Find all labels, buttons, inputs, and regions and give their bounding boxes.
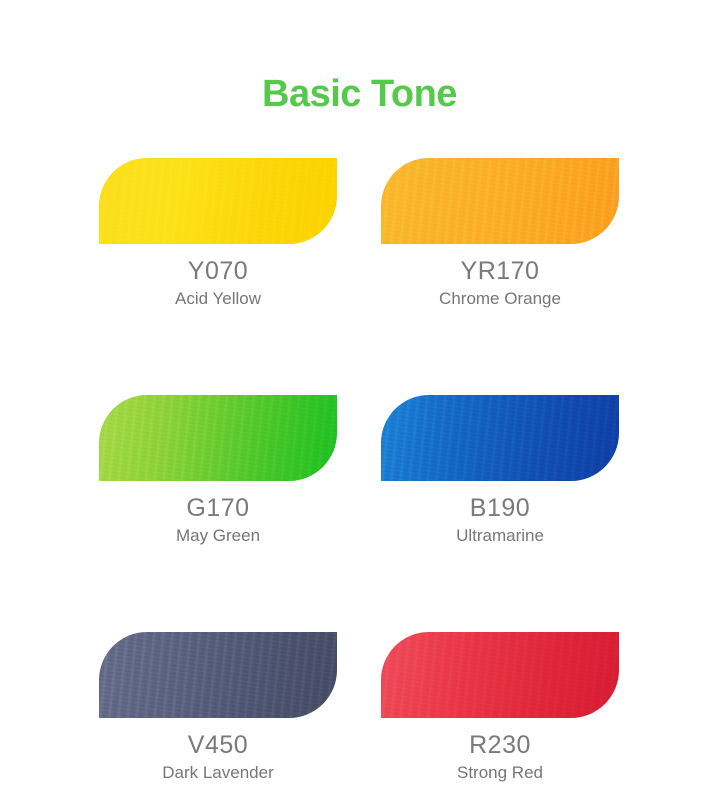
swatch-name: Acid Yellow — [99, 287, 337, 311]
swatch-cell-r230[interactable]: R230 Strong Red — [381, 632, 619, 785]
swatch-labels: G170 May Green — [99, 493, 337, 548]
swatch-code: R230 — [381, 730, 619, 760]
color-swatch-y070[interactable] — [99, 158, 337, 244]
swatch-code: YR170 — [381, 256, 619, 286]
swatch-wrap — [99, 158, 337, 244]
swatch-wrap — [381, 632, 619, 718]
swatch-name: Ultramarine — [381, 524, 619, 548]
swatch-cell-v450[interactable]: V450 Dark Lavender — [99, 632, 337, 785]
color-swatch-yr170[interactable] — [381, 158, 619, 244]
swatch-cell-y070[interactable]: Y070 Acid Yellow — [99, 158, 337, 311]
swatch-code: G170 — [99, 493, 337, 523]
swatch-name: Strong Red — [381, 761, 619, 785]
color-swatch-r230[interactable] — [381, 632, 619, 718]
swatch-name: Chrome Orange — [381, 287, 619, 311]
swatch-wrap — [99, 632, 337, 718]
swatch-code: Y070 — [99, 256, 337, 286]
swatch-name: Dark Lavender — [99, 761, 337, 785]
color-swatch-v450[interactable] — [99, 632, 337, 718]
swatch-name: May Green — [99, 524, 337, 548]
color-swatch-b190[interactable] — [381, 395, 619, 481]
swatch-cell-b190[interactable]: B190 Ultramarine — [381, 395, 619, 548]
color-swatch-g170[interactable] — [99, 395, 337, 481]
swatch-labels: Y070 Acid Yellow — [99, 256, 337, 311]
swatch-labels: YR170 Chrome Orange — [381, 256, 619, 311]
swatch-labels: B190 Ultramarine — [381, 493, 619, 548]
swatch-cell-yr170[interactable]: YR170 Chrome Orange — [381, 158, 619, 311]
swatch-wrap — [381, 395, 619, 481]
swatch-wrap — [99, 395, 337, 481]
swatch-labels: V450 Dark Lavender — [99, 730, 337, 785]
swatch-labels: R230 Strong Red — [381, 730, 619, 785]
swatch-code: V450 — [99, 730, 337, 760]
swatch-cell-g170[interactable]: G170 May Green — [99, 395, 337, 548]
color-chart-page: Basic Tone Y070 Acid Yellow YR170 Chrome… — [0, 0, 719, 719]
page-title: Basic Tone — [0, 72, 719, 116]
swatch-grid: Y070 Acid Yellow YR170 Chrome Orange G17… — [99, 158, 619, 785]
swatch-code: B190 — [381, 493, 619, 523]
swatch-wrap — [381, 158, 619, 244]
